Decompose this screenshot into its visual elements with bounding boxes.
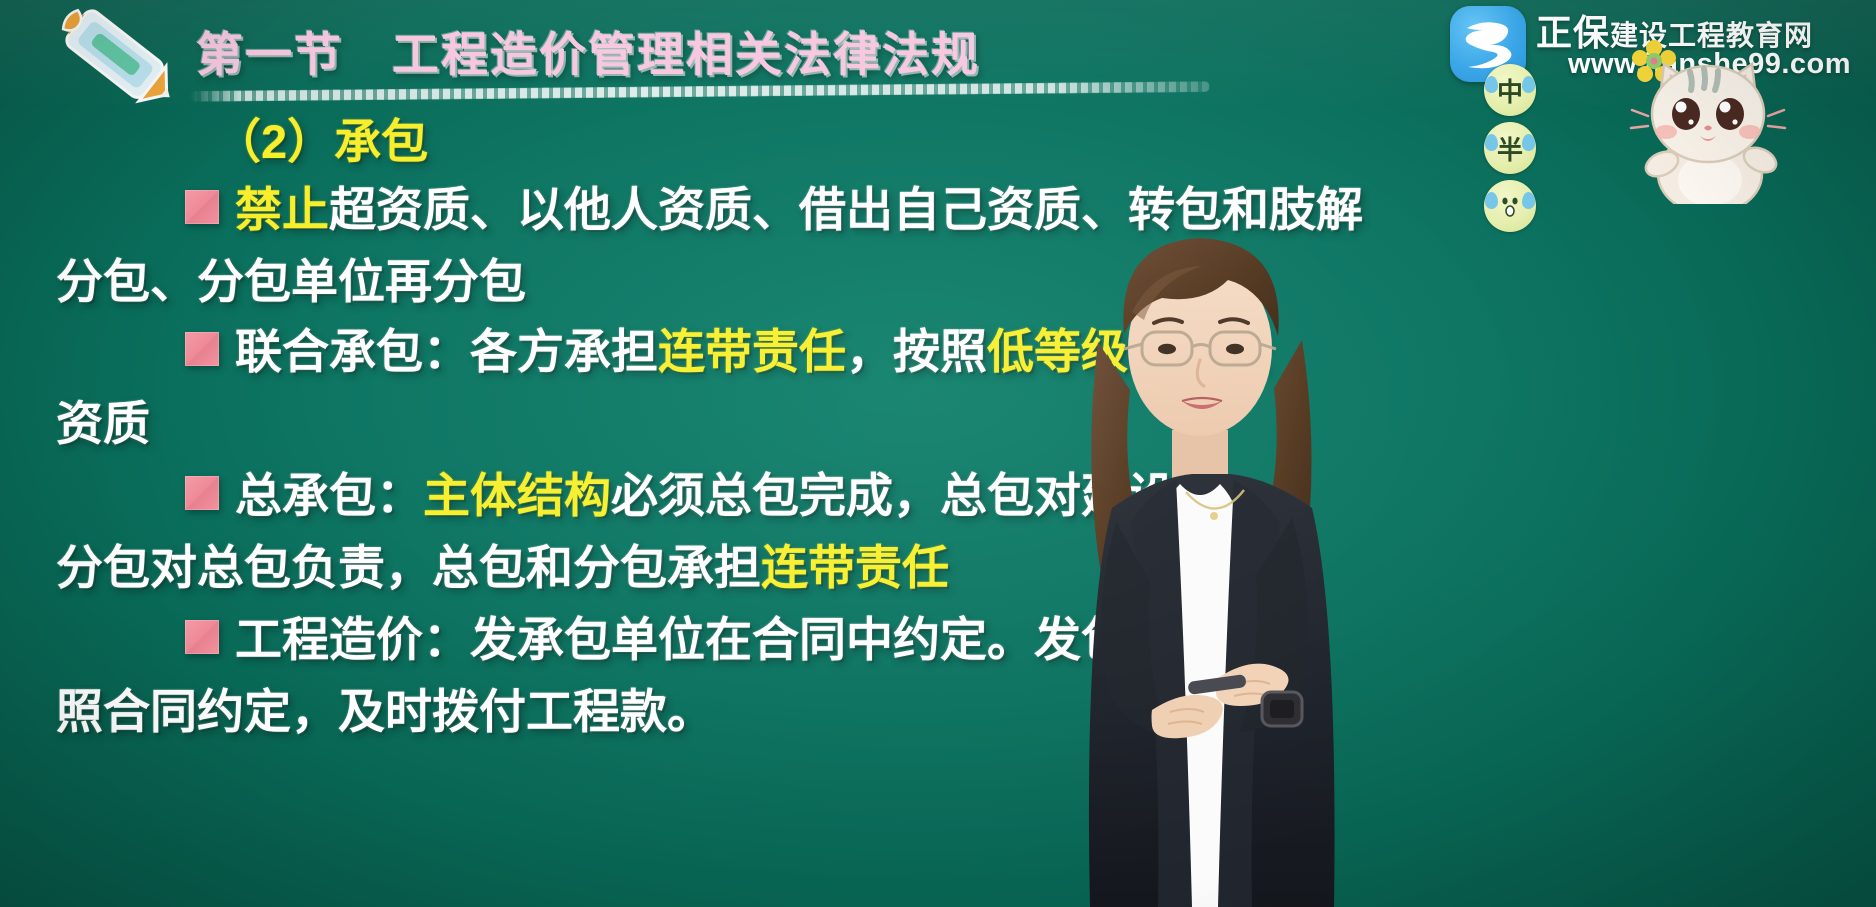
- pink-square-bullet: [185, 332, 219, 366]
- badge-label: 中: [1497, 72, 1523, 109]
- slide-heading-text: （2）承包: [214, 115, 428, 168]
- brand-name-main: 正保: [1536, 12, 1610, 53]
- bullet-2-seg-1: 连带责任: [658, 325, 846, 378]
- page-title: 第一节 工程造价管理相关法律法规: [196, 16, 980, 85]
- pink-square-bullet: [185, 620, 219, 654]
- crying-face-badge-icon: 半: [1484, 122, 1536, 174]
- pink-square-bullet: [185, 190, 219, 224]
- bullet-2: 联合承包：各方承担连带责任，按照低等级确定职: [185, 328, 1269, 375]
- bullet-3-seg-1: 主体结构: [423, 469, 611, 522]
- video-lecture-frame: 第一节 工程造价管理相关法律法规 正保建设工程教育网 www.jianshe99…: [0, 0, 1876, 907]
- presenter-person: [1020, 192, 1410, 907]
- bullet-1-continuation: 分包、分包单位再分包: [56, 258, 526, 305]
- crying-face-badge-icon: [1484, 180, 1536, 232]
- bullet-2-seg-4: 确定职: [1128, 325, 1269, 378]
- bullet-4-continuation: 照合同约定，及时拨付工程款。: [56, 688, 714, 735]
- bullet-2-seg-3: 低等级: [987, 325, 1128, 378]
- bullet-3-cont-seg-1: 连带责任: [761, 541, 949, 594]
- bullet-2-seg-2: ，按照: [846, 325, 987, 378]
- bullet-2-continuation: 资质: [56, 400, 150, 447]
- bullet-1-seg-1: 超资质、以他人资质、借出自己资质、转包和肢解: [329, 183, 1363, 236]
- bullet-3-seg-2: 必须总包完成，总包对建设单: [611, 469, 1222, 522]
- pink-square-bullet: [185, 476, 219, 510]
- bullet-1-seg-0: 禁止: [235, 183, 329, 236]
- bullet-2-seg-0: 联合承包：各方承担: [235, 325, 658, 378]
- bullet-3-continuation: 分包对总包负责，总包和分包承担连带责任: [56, 544, 949, 591]
- emoji-badge-column: 中 半: [1484, 64, 1546, 238]
- bullet-4-seg-0: 工程造价：发承包单位在合同中约定。发包单位应: [235, 613, 1269, 666]
- cat-mascot-icon: [1604, 52, 1816, 204]
- bullet-3-cont-seg-0: 分包对总包负责，总包和分包承担: [56, 541, 761, 594]
- crying-face-badge-icon: 中: [1484, 64, 1536, 116]
- slide-heading: （2）承包: [214, 118, 428, 165]
- badge-label: 半: [1497, 130, 1523, 167]
- pencil-icon: [52, 4, 182, 108]
- bullet-3-seg-0: 总承包：: [235, 469, 423, 522]
- bullet-3: 总承包：主体结构必须总包完成，总包对建设单: [185, 472, 1222, 519]
- bullet-1: 禁止超资质、以他人资质、借出自己资质、转包和肢解: [185, 186, 1363, 233]
- bullet-4: 工程造价：发承包单位在合同中约定。发包单位应: [185, 616, 1269, 663]
